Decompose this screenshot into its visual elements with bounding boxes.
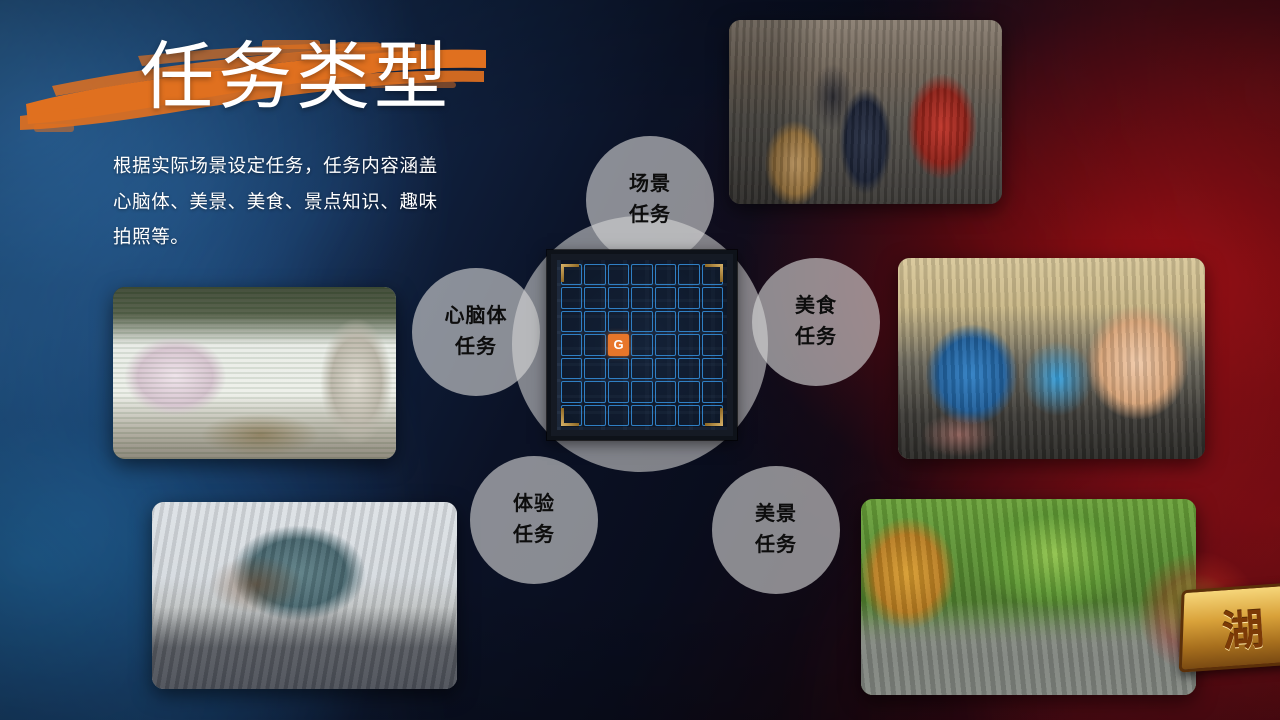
board-cell[interactable] (584, 405, 605, 426)
bubble-scenery-line2: 任务 (755, 530, 797, 561)
board-cell[interactable] (561, 311, 582, 332)
board-cell[interactable] (678, 287, 699, 308)
board-cell[interactable] (561, 264, 582, 285)
photo-herb-banner-image (113, 287, 396, 459)
board-cell[interactable] (678, 311, 699, 332)
game-board[interactable]: G (547, 250, 737, 440)
bubble-mind-body[interactable]: 心脑体 任务 (412, 268, 540, 396)
board-cell[interactable] (561, 405, 582, 426)
board-active-tile[interactable]: G (608, 334, 629, 355)
bubble-scenery-line1: 美景 (755, 499, 797, 530)
board-cell[interactable] (702, 405, 723, 426)
board-cell[interactable] (655, 358, 676, 379)
board-cell[interactable] (702, 311, 723, 332)
board-cell[interactable] (631, 264, 652, 285)
bubble-food-line2: 任务 (795, 322, 837, 353)
game-board-grid: G (561, 264, 723, 426)
board-cell[interactable] (584, 264, 605, 285)
slide-canvas: 任务类型 根据实际场景设定任务，任务内容涵盖心脑体、美景、美食、景点知识、趣味拍… (0, 0, 1280, 720)
board-cell[interactable] (702, 287, 723, 308)
bubble-scene[interactable]: 场景 任务 (586, 136, 714, 264)
board-cell[interactable] (678, 405, 699, 426)
bubble-mind-body-line2: 任务 (455, 332, 497, 363)
board-cell[interactable] (678, 381, 699, 402)
board-cell[interactable] (655, 311, 676, 332)
photo-herb-banner (113, 287, 396, 459)
board-cell[interactable] (631, 311, 652, 332)
board-cell[interactable] (655, 334, 676, 355)
bubble-experience-line2: 任务 (513, 520, 555, 551)
board-cell[interactable] (655, 287, 676, 308)
board-cell[interactable] (608, 358, 629, 379)
board-cell[interactable] (631, 287, 652, 308)
board-cell[interactable] (678, 264, 699, 285)
bubble-scene-line2: 任务 (629, 200, 671, 231)
game-board-surface: G (557, 260, 727, 430)
board-cell[interactable] (608, 311, 629, 332)
board-cell[interactable] (561, 334, 582, 355)
body-paragraph-text: 根据实际场景设定任务，任务内容涵盖心脑体、美景、美食、景点知识、趣味拍照等。 (113, 148, 443, 255)
photo-food-stall-image (898, 258, 1205, 459)
board-cell[interactable] (561, 287, 582, 308)
bubble-food-line1: 美食 (795, 291, 837, 322)
board-cell[interactable] (584, 287, 605, 308)
photo-food-stall (898, 258, 1205, 459)
board-cell[interactable] (608, 381, 629, 402)
board-cell[interactable] (655, 264, 676, 285)
board-cell[interactable] (608, 405, 629, 426)
board-cell[interactable] (702, 381, 723, 402)
board-cell[interactable] (631, 358, 652, 379)
board-cell[interactable] (631, 381, 652, 402)
board-cell[interactable] (584, 334, 605, 355)
page-title: 任务类型 (140, 40, 452, 114)
bubble-mind-body-line1: 心脑体 (445, 301, 508, 332)
board-cell[interactable] (561, 381, 582, 402)
board-cell[interactable] (584, 381, 605, 402)
board-cell[interactable] (608, 287, 629, 308)
board-cell[interactable] (655, 405, 676, 426)
board-cell[interactable] (678, 358, 699, 379)
board-cell[interactable] (702, 334, 723, 355)
bubble-scene-line1: 场景 (629, 169, 671, 200)
board-cell[interactable] (631, 405, 652, 426)
board-cell[interactable] (631, 334, 652, 355)
board-cell[interactable] (678, 334, 699, 355)
photo-park-activity (861, 499, 1196, 695)
task-type-diagram: 场景 任务 心脑体 任务 美食 任务 体验 任务 美景 任务 G (400, 128, 900, 578)
board-cell[interactable] (561, 358, 582, 379)
board-cell[interactable] (702, 264, 723, 285)
board-cell[interactable] (584, 311, 605, 332)
bubble-experience[interactable]: 体验 任务 (470, 456, 598, 584)
board-cell[interactable] (655, 381, 676, 402)
bubble-food[interactable]: 美食 任务 (752, 258, 880, 386)
board-cell[interactable] (702, 358, 723, 379)
bubble-scenery[interactable]: 美景 任务 (712, 466, 840, 594)
bubble-experience-line1: 体验 (513, 489, 555, 520)
board-cell[interactable] (608, 264, 629, 285)
body-paragraph: 根据实际场景设定任务，任务内容涵盖心脑体、美景、美食、景点知识、趣味拍照等。 (113, 148, 443, 255)
photo-park-activity-image (861, 499, 1196, 695)
board-cell[interactable] (584, 358, 605, 379)
